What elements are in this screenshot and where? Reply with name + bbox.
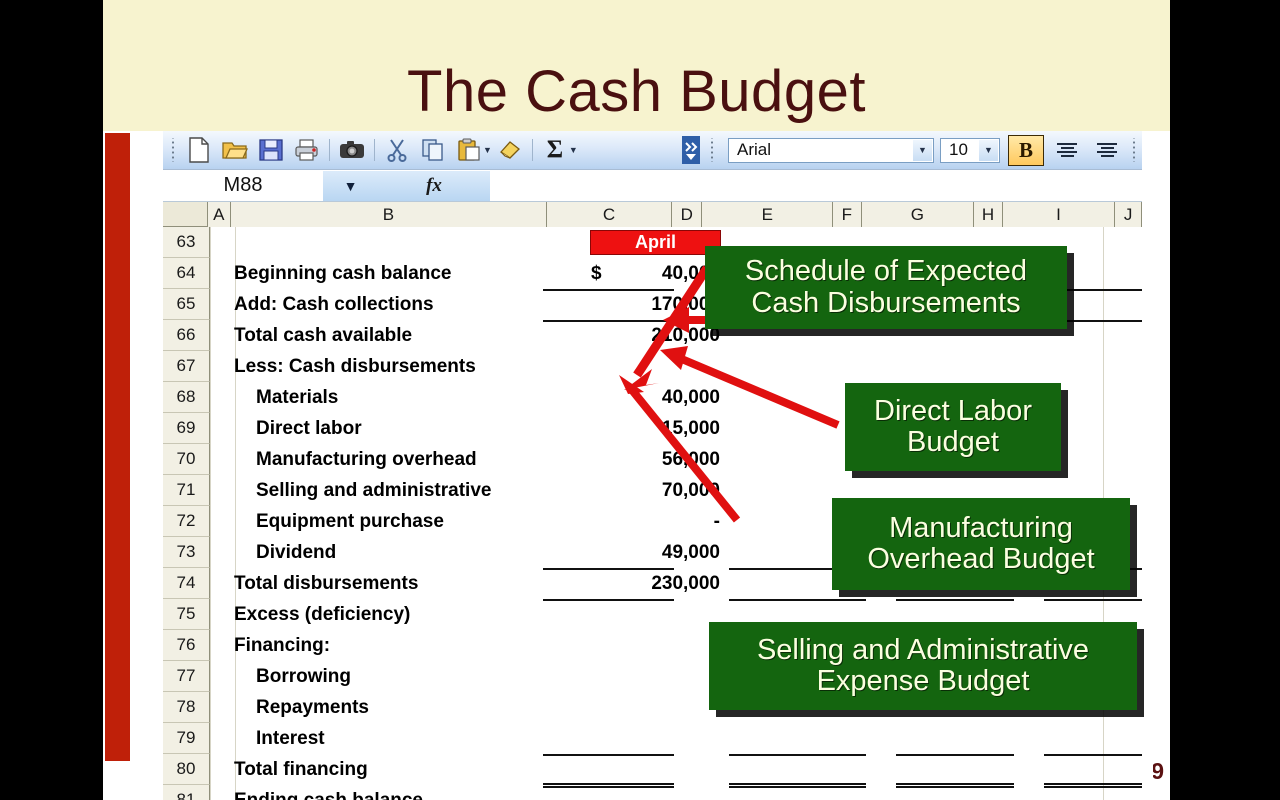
excel-standard-toolbar: ▼ Σ ▼ Arial ▼ 10 xyxy=(163,131,1142,170)
column-header-i[interactable]: I xyxy=(1003,202,1115,227)
page-title: The Cash Budget xyxy=(103,58,1170,125)
cell-b69[interactable]: Direct labor xyxy=(256,413,362,444)
callout-line-2: Cash Disbursements xyxy=(751,287,1020,319)
print-icon[interactable] xyxy=(289,134,325,166)
column-header-d[interactable]: D xyxy=(672,202,703,227)
row-header-81[interactable]: 81 xyxy=(163,785,210,800)
insert-function-icon[interactable]: fx xyxy=(378,171,490,201)
left-black-gutter xyxy=(0,0,103,800)
cell-b77[interactable]: Borrowing xyxy=(256,661,351,692)
cell-b68[interactable]: Materials xyxy=(256,382,338,413)
callout-direct-labor: Direct Labor Budget xyxy=(845,383,1061,471)
cell-b74[interactable]: Total disbursements xyxy=(234,568,418,599)
column-header-f[interactable]: F xyxy=(833,202,862,227)
cell-b72[interactable]: Equipment purchase xyxy=(256,506,444,537)
cell-c73[interactable]: 49,000 xyxy=(590,537,720,568)
toolbar-separator-1 xyxy=(329,139,330,161)
rule-i-74 xyxy=(1044,599,1142,601)
font-name-dropdown-icon[interactable]: ▼ xyxy=(913,140,932,161)
toolbar-separator-3 xyxy=(532,139,533,161)
right-black-gutter xyxy=(1170,0,1280,800)
row-header-76[interactable]: 76 xyxy=(163,630,210,661)
column-header-a[interactable]: A xyxy=(208,202,231,227)
font-size-dropdown-icon[interactable]: ▼ xyxy=(979,140,998,161)
autosum-icon[interactable]: Σ xyxy=(537,134,573,166)
rule-g-74 xyxy=(896,599,1014,601)
row-header-79[interactable]: 79 xyxy=(163,723,210,754)
formula-input[interactable] xyxy=(490,171,1142,201)
open-icon[interactable] xyxy=(217,134,253,166)
font-name-combo[interactable]: Arial ▼ xyxy=(728,138,934,163)
worksheet-row: 80Total financing xyxy=(163,754,1142,785)
callout-line-1: Direct Labor xyxy=(874,395,1032,427)
select-all-corner[interactable] xyxy=(163,202,208,226)
row-cells: Interest xyxy=(210,723,1142,754)
cell-b75[interactable]: Excess (deficiency) xyxy=(234,599,410,630)
toolbar-overflow-icon[interactable] xyxy=(680,134,702,166)
rule-c-74 xyxy=(543,599,674,601)
toolbar-grip-formatting[interactable] xyxy=(708,138,716,162)
worksheet-row: 79Interest xyxy=(163,723,1142,754)
callout-schedule-disbursements: Schedule of Expected Cash Disbursements xyxy=(705,246,1067,329)
cell-b76[interactable]: Financing: xyxy=(234,630,330,661)
cell-b64[interactable]: Beginning cash balance xyxy=(234,258,452,289)
row-header-64[interactable]: 64 xyxy=(163,258,210,289)
worksheet-row: 67Less: Cash disbursements xyxy=(163,351,1142,382)
cell-c72[interactable]: - xyxy=(590,506,720,537)
cell-c69[interactable]: 15,000 xyxy=(590,413,720,444)
cell-c63-april-header[interactable]: April xyxy=(590,230,721,255)
cell-b73[interactable]: Dividend xyxy=(256,537,336,568)
callout-line-2: Overhead Budget xyxy=(867,543,1094,575)
rule-e-80 xyxy=(729,754,866,756)
callout-selling-administrative: Selling and Administrative Expense Budge… xyxy=(709,622,1137,710)
align-left-button[interactable] xyxy=(1050,136,1084,164)
toolbar-grip-right[interactable] xyxy=(1130,138,1138,162)
slide-page-number: 9 xyxy=(1153,758,1164,786)
column-header-j[interactable]: J xyxy=(1115,202,1142,227)
slide-accent-bar xyxy=(105,133,130,761)
row-header-73[interactable]: 73 xyxy=(163,537,210,568)
font-size-combo[interactable]: 10 ▼ xyxy=(940,138,1000,163)
copy-icon[interactable] xyxy=(415,134,451,166)
cell-b80[interactable]: Total financing xyxy=(234,754,368,785)
rule-c-73 xyxy=(543,568,674,570)
column-header-b[interactable]: B xyxy=(231,202,547,227)
row-header-63[interactable]: 63 xyxy=(163,227,210,258)
rule-i-81-double xyxy=(1044,783,1142,788)
save-icon[interactable] xyxy=(253,134,289,166)
row-header-77[interactable]: 77 xyxy=(163,661,210,692)
font-size-value: 10 xyxy=(941,140,968,160)
cell-b81[interactable]: Ending cash balance xyxy=(234,785,423,800)
row-header-70[interactable]: 70 xyxy=(163,444,210,475)
cell-c66[interactable]: 210,000 xyxy=(590,320,720,351)
cut-icon[interactable] xyxy=(379,134,415,166)
row-header-72[interactable]: 72 xyxy=(163,506,210,537)
callout-line-1: Schedule of Expected xyxy=(745,255,1027,287)
row-header-69[interactable]: 69 xyxy=(163,413,210,444)
rule-c-65 xyxy=(543,289,674,291)
column-header-h[interactable]: H xyxy=(974,202,1003,227)
cell-c74[interactable]: 230,000 xyxy=(590,568,720,599)
callout-manufacturing-overhead: Manufacturing Overhead Budget xyxy=(832,498,1130,590)
paste-icon[interactable] xyxy=(451,134,487,166)
rule-e-74 xyxy=(729,599,866,601)
bold-button[interactable]: B xyxy=(1008,135,1044,166)
cell-c68[interactable]: 40,000 xyxy=(590,382,720,413)
row-header-78[interactable]: 78 xyxy=(163,692,210,723)
new-icon[interactable] xyxy=(181,134,217,166)
rule-i-80 xyxy=(1044,754,1142,756)
screenshot-root: The Cash Budget 9 xyxy=(0,0,1280,800)
cell-b79[interactable]: Interest xyxy=(256,723,325,754)
name-box-dropdown-icon[interactable]: ▼ xyxy=(323,171,378,201)
callout-line-2: Expense Budget xyxy=(817,665,1030,697)
rule-g-80 xyxy=(896,754,1014,756)
rule-g-81-double xyxy=(896,783,1014,788)
column-header-c[interactable]: C xyxy=(547,202,672,227)
callout-line-2: Budget xyxy=(907,426,999,458)
cell-c65[interactable]: 170,000 xyxy=(590,289,720,320)
column-header-row: A B C D E F G H I J xyxy=(163,202,1142,227)
presentation-slide: The Cash Budget 9 xyxy=(103,0,1170,800)
rule-c-80 xyxy=(543,754,674,756)
rule-c-81-double xyxy=(543,783,674,788)
cell-b65[interactable]: Add: Cash collections xyxy=(234,289,434,320)
formula-bar: M88 ▼ fx xyxy=(163,170,1142,202)
camera-icon[interactable] xyxy=(334,134,370,166)
row-header-80[interactable]: 80 xyxy=(163,754,210,785)
rule-c-66 xyxy=(543,320,674,322)
callout-line-1: Selling and Administrative xyxy=(757,634,1089,666)
cell-c64[interactable]: 40,000 xyxy=(590,258,720,289)
cell-b70[interactable]: Manufacturing overhead xyxy=(256,444,477,475)
cell-b67[interactable]: Less: Cash disbursements xyxy=(234,351,476,382)
align-center-button[interactable] xyxy=(1090,136,1124,164)
toolbar-separator-2 xyxy=(374,139,375,161)
row-cells: Less: Cash disbursements xyxy=(210,351,1142,382)
cell-c71[interactable]: 70,000 xyxy=(590,475,720,506)
toolbar-grip-standard[interactable] xyxy=(169,138,177,162)
row-header-74[interactable]: 74 xyxy=(163,568,210,599)
cell-c70[interactable]: 56,000 xyxy=(590,444,720,475)
callout-line-1: Manufacturing xyxy=(889,512,1073,544)
row-header-67[interactable]: 67 xyxy=(163,351,210,382)
row-header-71[interactable]: 71 xyxy=(163,475,210,506)
cell-b66[interactable]: Total cash available xyxy=(234,320,412,351)
column-header-e[interactable]: E xyxy=(702,202,833,227)
rule-e-81-double xyxy=(729,783,866,788)
column-header-g[interactable]: G xyxy=(862,202,974,227)
cell-b78[interactable]: Repayments xyxy=(256,692,369,723)
row-header-75[interactable]: 75 xyxy=(163,599,210,630)
cell-b71[interactable]: Selling and administrative xyxy=(256,475,491,506)
row-cells: Total financing xyxy=(210,754,1142,785)
format-painter-icon[interactable] xyxy=(492,134,528,166)
font-name-value: Arial xyxy=(729,140,771,160)
name-box[interactable]: M88 xyxy=(163,171,323,201)
row-header-68[interactable]: 68 xyxy=(163,382,210,413)
row-header-66[interactable]: 66 xyxy=(163,320,210,351)
row-header-65[interactable]: 65 xyxy=(163,289,210,320)
